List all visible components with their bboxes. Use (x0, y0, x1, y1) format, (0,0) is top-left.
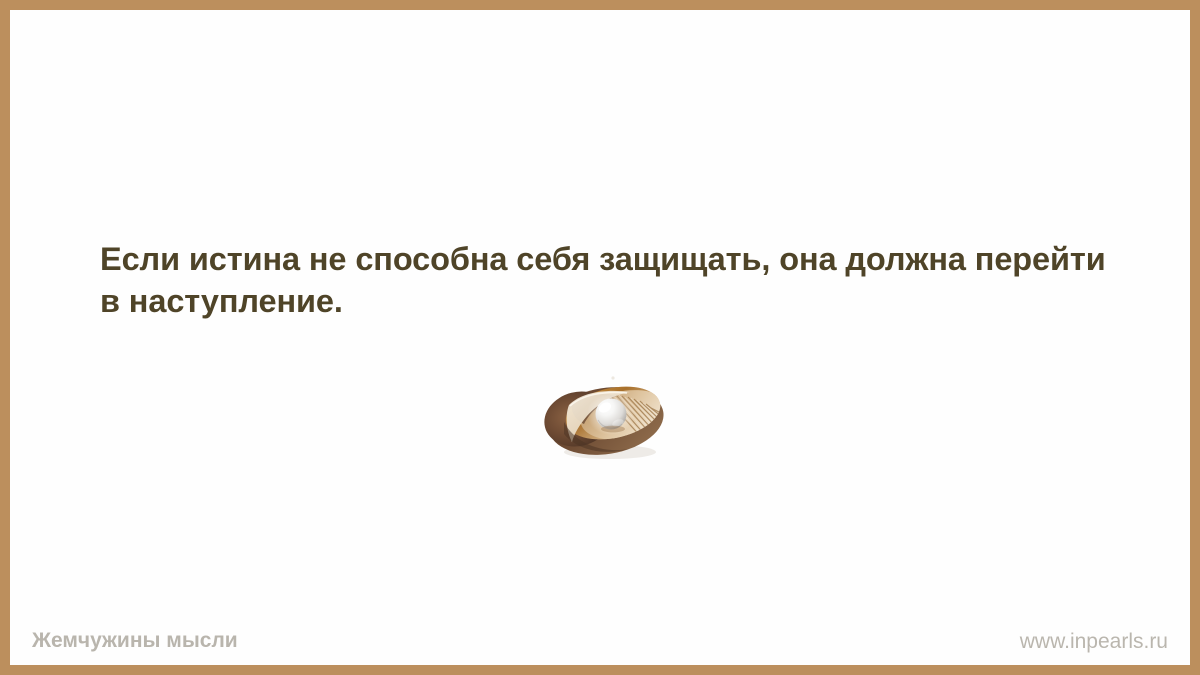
quote-block: Если истина не способна себя защищать, о… (100, 238, 1110, 322)
page-canvas: Если истина не способна себя защищать, о… (10, 10, 1190, 665)
page-frame: Если истина не способна себя защищать, о… (0, 0, 1200, 675)
footer-website-url[interactable]: www.inpearls.ru (1020, 630, 1168, 654)
footer-brand: Жемчужины мысли (32, 629, 238, 653)
quote-text: Если истина не способна себя защищать, о… (100, 238, 1110, 322)
oyster-shell-with-pearl-image (530, 372, 690, 467)
